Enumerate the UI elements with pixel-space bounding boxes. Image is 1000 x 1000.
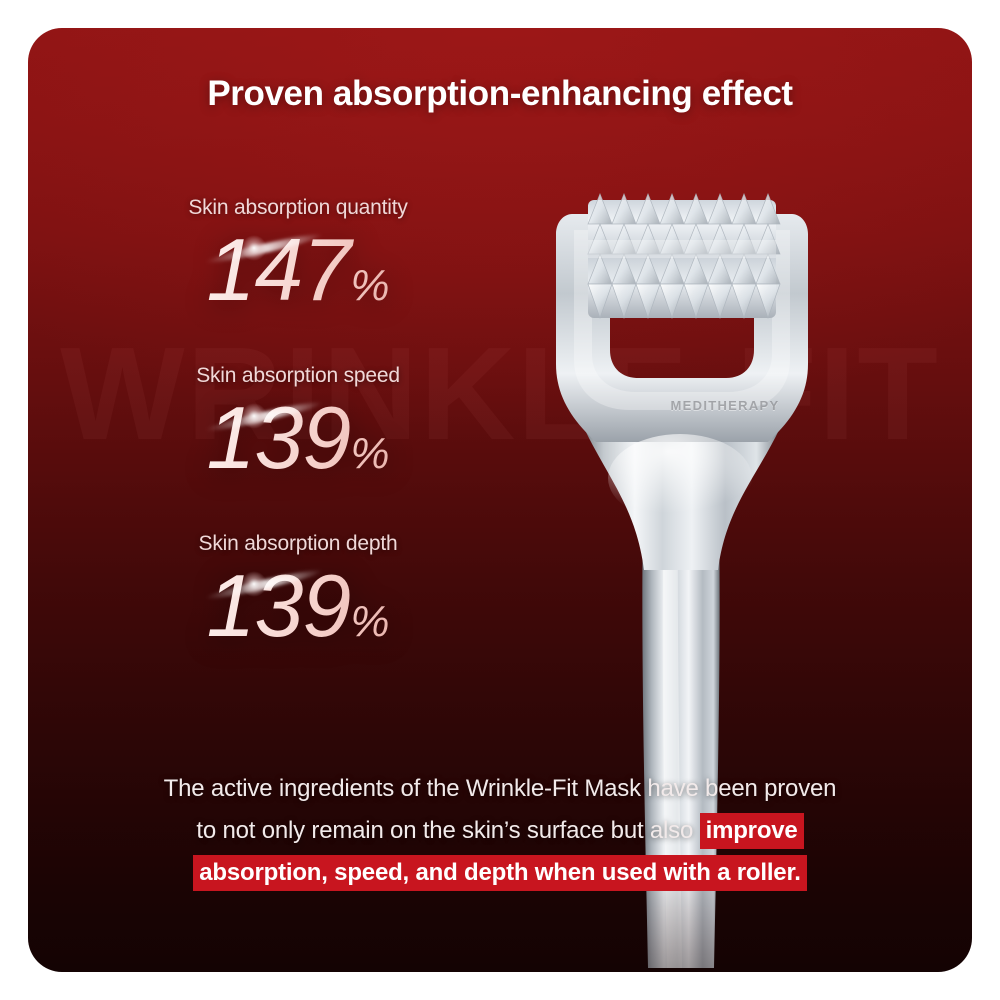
page-title: Proven absorption-enhancing effect — [28, 74, 972, 114]
stat-unit: % — [350, 597, 389, 646]
caption-line-1: The active ingredients of the Wrinkle-Fi… — [68, 768, 932, 810]
stat-item-absorption-quantity: Skin absorption quantity 147% — [88, 196, 508, 317]
stat-value: 147% — [88, 222, 508, 317]
stat-value: 139% — [88, 558, 508, 653]
stat-label: Skin absorption depth — [88, 532, 508, 556]
caption-line-3: absorption, speed, and depth when used w… — [68, 852, 932, 894]
caption-highlight-benefits: absorption, speed, and depth when used w… — [193, 855, 806, 891]
statistics-list: Skin absorption quantity 147% Skin absor… — [88, 196, 508, 653]
stat-item-absorption-speed: Skin absorption speed 139% — [88, 364, 508, 485]
caption-paragraph: The active ingredients of the Wrinkle-Fi… — [68, 768, 932, 894]
stat-unit: % — [350, 429, 389, 478]
stat-item-absorption-depth: Skin absorption depth 139% — [88, 532, 508, 653]
promo-card: WRINKLE-FIT — [28, 28, 972, 972]
stat-label: Skin absorption speed — [88, 364, 508, 388]
stat-number: 139 — [207, 556, 351, 655]
caption-highlight-improve: improve — [700, 813, 804, 849]
stat-number: 139 — [207, 388, 351, 487]
stat-unit: % — [350, 261, 389, 310]
brand-engraving-label: MEDITHERAPY — [625, 398, 825, 413]
caption-line-2: to not only remain on the skin’s surface… — [68, 810, 932, 852]
stat-number: 147 — [207, 220, 351, 319]
stat-value: 139% — [88, 390, 508, 485]
stat-label: Skin absorption quantity — [88, 196, 508, 220]
caption-line-2-plain: to not only remain on the skin’s surface… — [196, 817, 699, 844]
